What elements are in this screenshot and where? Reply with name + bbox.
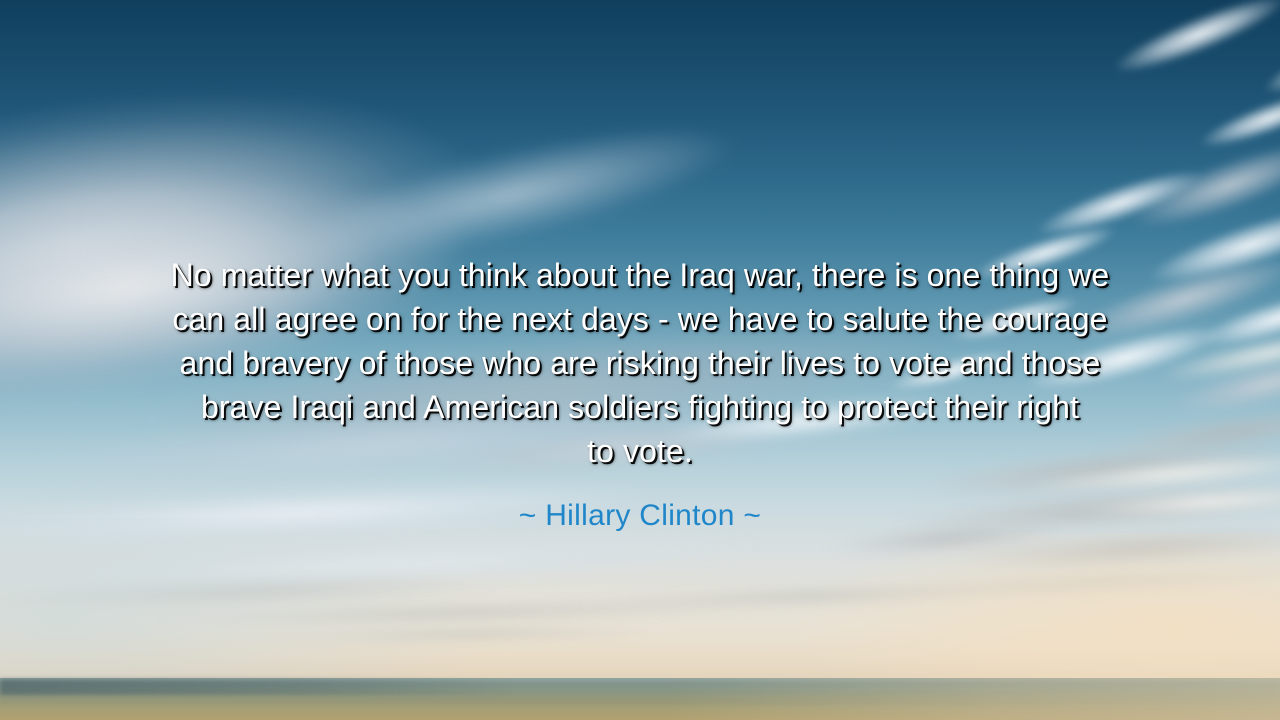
quote-text-block: No matter what you think about the Iraq … [95,253,1185,473]
quote-line: brave Iraqi and American soldiers fighti… [95,385,1185,429]
quote-image-canvas: No matter what you think about the Iraq … [0,0,1280,720]
quote-line: can all agree on for the next days - we … [95,297,1185,341]
text-overlay: No matter what you think about the Iraq … [0,0,1280,720]
quote-line: and bravery of those who are risking the… [95,341,1185,385]
quote-attribution: ~ Hillary Clinton ~ [0,497,1280,535]
quote-line: No matter what you think about the Iraq … [95,253,1185,297]
quote-line: to vote. [95,429,1185,473]
